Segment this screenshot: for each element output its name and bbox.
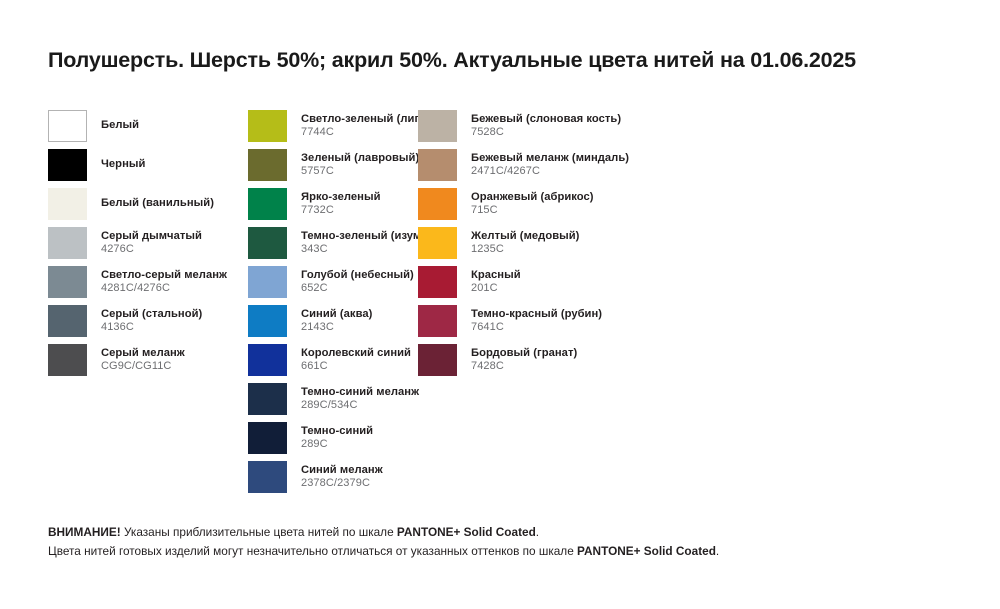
swatch-text: Темно-красный (рубин)7641C <box>471 307 602 334</box>
swatch-pantone-code: CG9C/CG11C <box>101 360 185 373</box>
color-swatch[interactable] <box>48 305 87 337</box>
swatch-pantone-code: 2471C/4267C <box>471 165 629 178</box>
swatch-pantone-code: 289C/534C <box>301 399 419 412</box>
swatch-row[interactable]: Синий (аква)2143C <box>248 305 418 344</box>
swatch-pantone-code: 201C <box>471 282 521 295</box>
swatch-text: Светло-зеленый (липа)7744C <box>301 112 431 139</box>
swatch-name: Синий (аква) <box>301 307 372 321</box>
swatch-text: Ярко-зеленый7732C <box>301 190 381 217</box>
swatch-pantone-code: 4281C/4276C <box>101 282 227 295</box>
color-swatch[interactable] <box>418 305 457 337</box>
color-swatch[interactable] <box>248 227 287 259</box>
color-swatch[interactable] <box>248 344 287 376</box>
swatch-row[interactable]: Белый (ванильный) <box>48 188 248 227</box>
swatch-text: Красный201C <box>471 268 521 295</box>
swatch-text: Оранжевый (абрикос)715C <box>471 190 594 217</box>
pantone-brand-2: PANTONE+ Solid Coated <box>577 544 716 558</box>
swatch-row[interactable]: Темно-синий289C <box>248 422 418 461</box>
color-swatch[interactable] <box>248 461 287 493</box>
swatch-name: Красный <box>471 268 521 282</box>
swatch-row[interactable]: Оранжевый (абрикос)715C <box>418 188 678 227</box>
color-swatch[interactable] <box>48 188 87 220</box>
swatch-row[interactable]: Светло-зеленый (липа)7744C <box>248 110 418 149</box>
swatch-name: Темно-синий <box>301 424 373 438</box>
disclaimer-line-2-text: Цвета нитей готовых изделий могут незнач… <box>48 544 577 558</box>
disclaimer-line-2: Цвета нитей готовых изделий могут незнач… <box>48 542 968 561</box>
page-title: Полушерсть. Шерсть 50%; акрил 50%. Актуа… <box>48 48 968 73</box>
swatch-name: Ярко-зеленый <box>301 190 381 204</box>
disclaimer: ВНИМАНИЕ! Указаны приблизительные цвета … <box>48 523 968 561</box>
swatch-row[interactable]: Серый (стальной)4136C <box>48 305 248 344</box>
disclaimer-attention-label: ВНИМАНИЕ! <box>48 525 121 539</box>
swatch-text: Синий меланж2378C/2379C <box>301 463 383 490</box>
color-swatch[interactable] <box>248 305 287 337</box>
color-swatch[interactable] <box>418 149 457 181</box>
swatch-name: Желтый (медовый) <box>471 229 579 243</box>
disclaimer-line-1-text: Указаны приблизительные цвета нитей по ш… <box>121 525 397 539</box>
swatch-name: Бордовый (гранат) <box>471 346 577 360</box>
swatch-pantone-code: 4136C <box>101 321 202 334</box>
swatch-name: Голубой (небесный) <box>301 268 414 282</box>
swatch-row[interactable]: Ярко-зеленый7732C <box>248 188 418 227</box>
swatch-row[interactable]: Бежевый меланж (миндаль)2471C/4267C <box>418 149 678 188</box>
color-swatch[interactable] <box>418 188 457 220</box>
swatch-pantone-code: 1235C <box>471 243 579 256</box>
swatch-text: Бежевый меланж (миндаль)2471C/4267C <box>471 151 629 178</box>
swatch-text: Серый (стальной)4136C <box>101 307 202 334</box>
swatch-row[interactable]: Красный201C <box>418 266 678 305</box>
swatch-name: Белый <box>101 118 139 132</box>
swatch-text: Белый <box>101 118 139 132</box>
disclaimer-line-1-end: . <box>536 525 539 539</box>
swatch-text: Желтый (медовый)1235C <box>471 229 579 256</box>
swatch-name: Белый (ванильный) <box>101 196 214 210</box>
swatch-name: Серый дымчатый <box>101 229 202 243</box>
swatch-text: Темно-синий289C <box>301 424 373 451</box>
swatch-row[interactable]: Серый дымчатый4276C <box>48 227 248 266</box>
swatch-name: Синий меланж <box>301 463 383 477</box>
swatch-text: Бордовый (гранат)7428C <box>471 346 577 373</box>
swatch-text: Серый дымчатый4276C <box>101 229 202 256</box>
swatch-pantone-code: 2143C <box>301 321 372 334</box>
swatch-row[interactable]: Зеленый (лавровый)5757C <box>248 149 418 188</box>
pantone-brand-1: PANTONE+ Solid Coated <box>397 525 536 539</box>
swatch-row[interactable]: Бордовый (гранат)7428C <box>418 344 678 383</box>
swatch-name: Серый меланж <box>101 346 185 360</box>
swatch-pantone-code: 289C <box>301 438 373 451</box>
swatch-name: Бежевый меланж (миндаль) <box>471 151 629 165</box>
swatch-row[interactable]: Серый меланжCG9C/CG11C <box>48 344 248 383</box>
swatch-pantone-code: 5757C <box>301 165 419 178</box>
swatch-text: Серый меланжCG9C/CG11C <box>101 346 185 373</box>
swatch-name: Королевский синий <box>301 346 411 360</box>
swatch-column-greens-blues: Светло-зеленый (липа)7744CЗеленый (лавро… <box>248 110 418 500</box>
color-swatch[interactable] <box>418 110 457 142</box>
swatch-text: Черный <box>101 157 145 171</box>
swatch-name: Оранжевый (абрикос) <box>471 190 594 204</box>
swatch-pantone-code: 652C <box>301 282 414 295</box>
swatch-row[interactable]: Синий меланж2378C/2379C <box>248 461 418 500</box>
swatch-row[interactable]: Темно-синий меланж289C/534C <box>248 383 418 422</box>
color-swatch[interactable] <box>248 422 287 454</box>
swatch-row[interactable]: Белый <box>48 110 248 149</box>
swatch-text: Королевский синий661C <box>301 346 411 373</box>
color-swatch[interactable] <box>418 344 457 376</box>
swatch-pantone-code: 7641C <box>471 321 602 334</box>
swatch-pantone-code: 7428C <box>471 360 577 373</box>
swatch-name: Черный <box>101 157 145 171</box>
swatch-pantone-code: 2378C/2379C <box>301 477 383 490</box>
swatch-pantone-code: 715C <box>471 204 594 217</box>
swatch-row[interactable]: Голубой (небесный)652C <box>248 266 418 305</box>
swatch-text: Бежевый (слоновая кость)7528C <box>471 112 621 139</box>
swatch-name: Темно-красный (рубин) <box>471 307 602 321</box>
color-swatch[interactable] <box>418 227 457 259</box>
color-swatch[interactable] <box>48 110 87 142</box>
swatch-row[interactable]: Желтый (медовый)1235C <box>418 227 678 266</box>
swatch-name: Темно-синий меланж <box>301 385 419 399</box>
swatch-row[interactable]: Темно-красный (рубин)7641C <box>418 305 678 344</box>
color-swatch[interactable] <box>48 227 87 259</box>
color-card-page: Полушерсть. Шерсть 50%; акрил 50%. Актуа… <box>0 0 1000 609</box>
swatch-text: Голубой (небесный)652C <box>301 268 414 295</box>
swatch-column-warm: Бежевый (слоновая кость)7528CБежевый мел… <box>418 110 678 383</box>
swatch-pantone-code: 661C <box>301 360 411 373</box>
swatch-row[interactable]: Темно-зеленый (изумруд)343C <box>248 227 418 266</box>
swatch-text: Синий (аква)2143C <box>301 307 372 334</box>
color-swatch[interactable] <box>48 149 87 181</box>
swatch-text: Темно-синий меланж289C/534C <box>301 385 419 412</box>
swatch-pantone-code: 4276C <box>101 243 202 256</box>
swatch-row[interactable]: Королевский синий661C <box>248 344 418 383</box>
swatch-row[interactable]: Черный <box>48 149 248 188</box>
swatch-row[interactable]: Светло-серый меланж4281C/4276C <box>48 266 248 305</box>
swatch-name: Светло-зеленый (липа) <box>301 112 431 126</box>
swatch-column-neutrals: БелыйЧерныйБелый (ванильный)Серый дымчат… <box>48 110 248 383</box>
swatch-name: Бежевый (слоновая кость) <box>471 112 621 126</box>
swatch-name: Серый (стальной) <box>101 307 202 321</box>
color-swatch[interactable] <box>248 188 287 220</box>
disclaimer-line-1: ВНИМАНИЕ! Указаны приблизительные цвета … <box>48 523 968 542</box>
swatch-row[interactable]: Бежевый (слоновая кость)7528C <box>418 110 678 149</box>
swatch-text: Белый (ванильный) <box>101 196 214 210</box>
swatch-pantone-code: 7732C <box>301 204 381 217</box>
swatch-pantone-code: 7528C <box>471 126 621 139</box>
color-swatch[interactable] <box>248 110 287 142</box>
color-swatch[interactable] <box>48 344 87 376</box>
swatch-name: Светло-серый меланж <box>101 268 227 282</box>
swatch-text: Зеленый (лавровый)5757C <box>301 151 419 178</box>
color-swatch[interactable] <box>248 383 287 415</box>
color-swatch[interactable] <box>418 266 457 298</box>
disclaimer-line-2-end: . <box>716 544 719 558</box>
color-swatch[interactable] <box>248 149 287 181</box>
swatch-name: Зеленый (лавровый) <box>301 151 419 165</box>
swatch-text: Светло-серый меланж4281C/4276C <box>101 268 227 295</box>
color-swatch[interactable] <box>48 266 87 298</box>
swatch-pantone-code: 7744C <box>301 126 431 139</box>
color-swatch[interactable] <box>248 266 287 298</box>
